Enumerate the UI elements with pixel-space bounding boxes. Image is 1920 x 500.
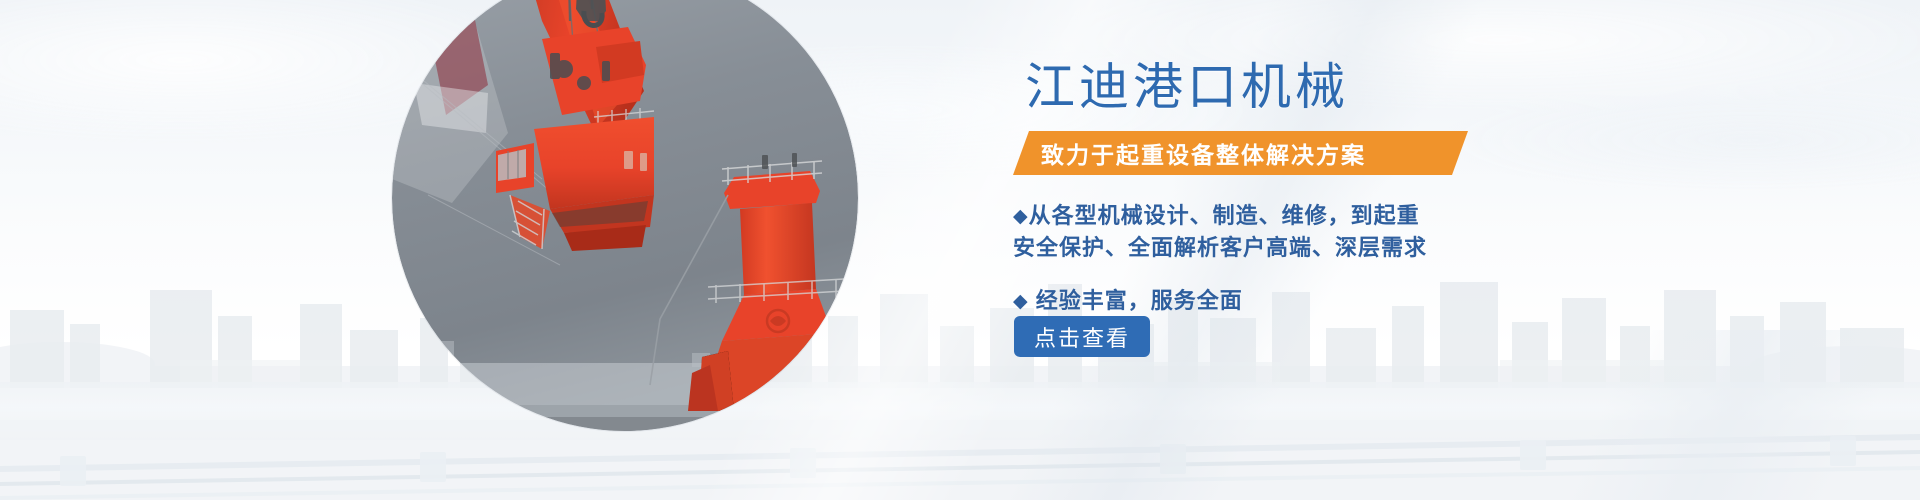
banner-content: 江迪港口机械 致力于起重设备整体解决方案 ◆从各型机械设计、制造、维修，到起重 …	[1013, 0, 1713, 500]
view-details-button[interactable]: 点击查看	[1014, 316, 1150, 357]
bullet-item-2: ◆ 经验丰富，服务全面	[1013, 285, 1693, 317]
diamond-bullet-icon: ◆	[1013, 201, 1029, 232]
diamond-bullet-icon: ◆	[1013, 286, 1029, 317]
tagline-text: 致力于起重设备整体解决方案	[1041, 131, 1366, 175]
bullet-item-1: ◆从各型机械设计、制造、维修，到起重 安全保护、全面解析客户高端、深层需求	[1013, 200, 1693, 263]
bullet-item-1-line-1: ◆从各型机械设计、制造、维修，到起重	[1013, 200, 1693, 232]
tagline-ribbon: 致力于起重设备整体解决方案	[1013, 131, 1468, 175]
bullet-item-1-line-2: 安全保护、全面解析客户高端、深层需求	[1013, 232, 1693, 263]
bullet-item-1-line-1-text: 从各型机械设计、制造、维修，到起重	[1029, 203, 1420, 228]
bullet-item-2-line-1: ◆ 经验丰富，服务全面	[1013, 285, 1693, 317]
hero-banner: 江迪港口机械 致力于起重设备整体解决方案 ◆从各型机械设计、制造、维修，到起重 …	[0, 0, 1920, 500]
feature-bullet-list: ◆从各型机械设计、制造、维修，到起重 安全保护、全面解析客户高端、深层需求 ◆ …	[1013, 200, 1693, 317]
bullet-item-2-line-1-text: 经验丰富，服务全面	[1029, 288, 1243, 313]
page-title: 江迪港口机械	[1025, 62, 1349, 112]
